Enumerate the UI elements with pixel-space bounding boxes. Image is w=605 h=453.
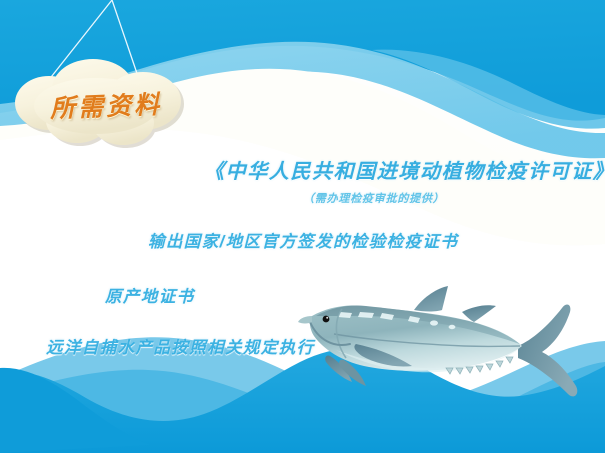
cloud-body xyxy=(15,59,181,145)
requirement-permit-note: （需办理检疫审批的提供） xyxy=(303,190,445,206)
requirement-ocean-caught-text: 远洋自捕水产品按照相关规定执行 xyxy=(46,334,315,358)
fish-eye-glint xyxy=(326,317,328,319)
cloud-badge: 所需资料 xyxy=(8,58,208,148)
fish-eye xyxy=(323,316,330,323)
fish-tail xyxy=(518,305,577,397)
tuna-fish-icon xyxy=(296,282,596,410)
requirement-permit-text: 《中华人民共和国进境动植物检疫许可证》 xyxy=(204,155,605,184)
fish-snout xyxy=(298,316,312,324)
fish-second-dorsal-fin xyxy=(462,305,496,322)
cloud-badge-shape xyxy=(8,58,208,148)
poster-canvas: 所需资料 《中华人民共和国进境动植物检疫许可证》 （需办理检疫审批的提供） 输出… xyxy=(0,0,605,453)
requirement-certificate-of-origin-text: 原产地证书 xyxy=(105,283,195,307)
requirement-inspection-certificate-text: 输出国家/地区官方签发的检验检疫证书 xyxy=(148,228,458,252)
fish-dorsal-fin xyxy=(414,286,448,312)
